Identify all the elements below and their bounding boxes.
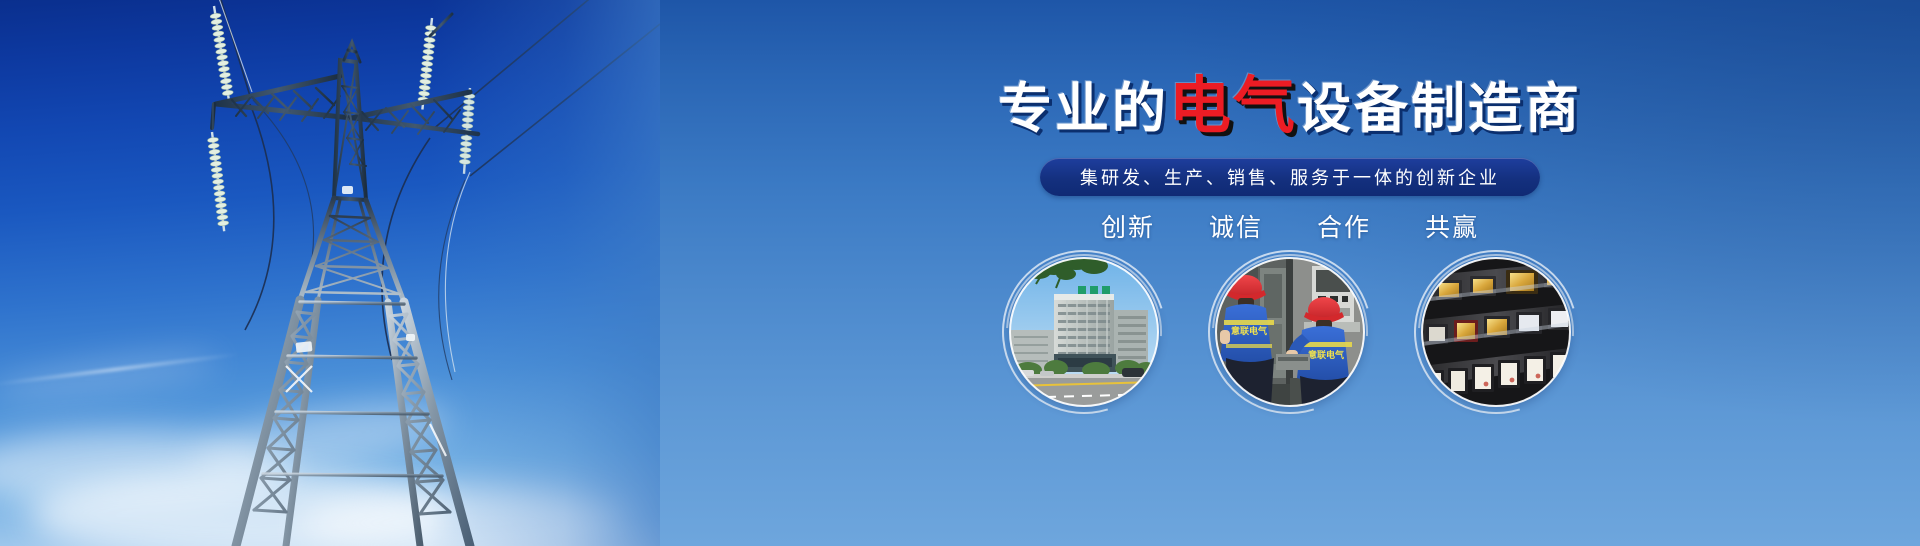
transmission-tower-graphic (0, 0, 660, 546)
photo-thumb-workers[interactable]: 意联电气 意联电气 (1216, 258, 1364, 406)
headline-part-2: 设备制造商 (1297, 79, 1582, 139)
keyword-item: 创新 (1101, 208, 1155, 244)
left-photo-transmission-tower (0, 0, 660, 546)
page-title: 专业的电气设备制造商 (660, 76, 1920, 138)
banner-content: 专业的电气设备制造商 集研发、生产、销售、服务于一体的创新企业 创新 诚信 合作… (660, 0, 1920, 546)
photo-thumb-certificates[interactable] (1422, 258, 1570, 406)
certificate-wall-photo (1422, 258, 1570, 406)
svg-text:意联电气: 意联电气 (1308, 349, 1344, 360)
headline-highlight: 电气 (1169, 72, 1297, 141)
headline-part-1: 专业的 (998, 79, 1169, 139)
keyword-item: 合作 (1317, 208, 1371, 244)
subtitle-badge: 集研发、生产、销售、服务于一体的创新企业 (1040, 158, 1540, 196)
keyword-item: 共赢 (1425, 208, 1479, 244)
keyword-item: 诚信 (1209, 208, 1263, 244)
keyword-list: 创新 诚信 合作 共赢 (660, 208, 1920, 244)
photo-thumb-office-building[interactable] (1010, 258, 1158, 406)
workers-photo: 意联电气 意联电气 (1216, 258, 1364, 406)
promo-banner: 专业的电气设备制造商 集研发、生产、销售、服务于一体的创新企业 创新 诚信 合作… (0, 0, 1920, 546)
photo-thumbnail-row: 意联电气 意联电气 (660, 258, 1920, 406)
svg-text:意联电气: 意联电气 (1231, 325, 1267, 336)
office-building-photo (1010, 258, 1158, 406)
subtitle-text: 集研发、生产、销售、服务于一体的创新企业 (1080, 164, 1500, 190)
